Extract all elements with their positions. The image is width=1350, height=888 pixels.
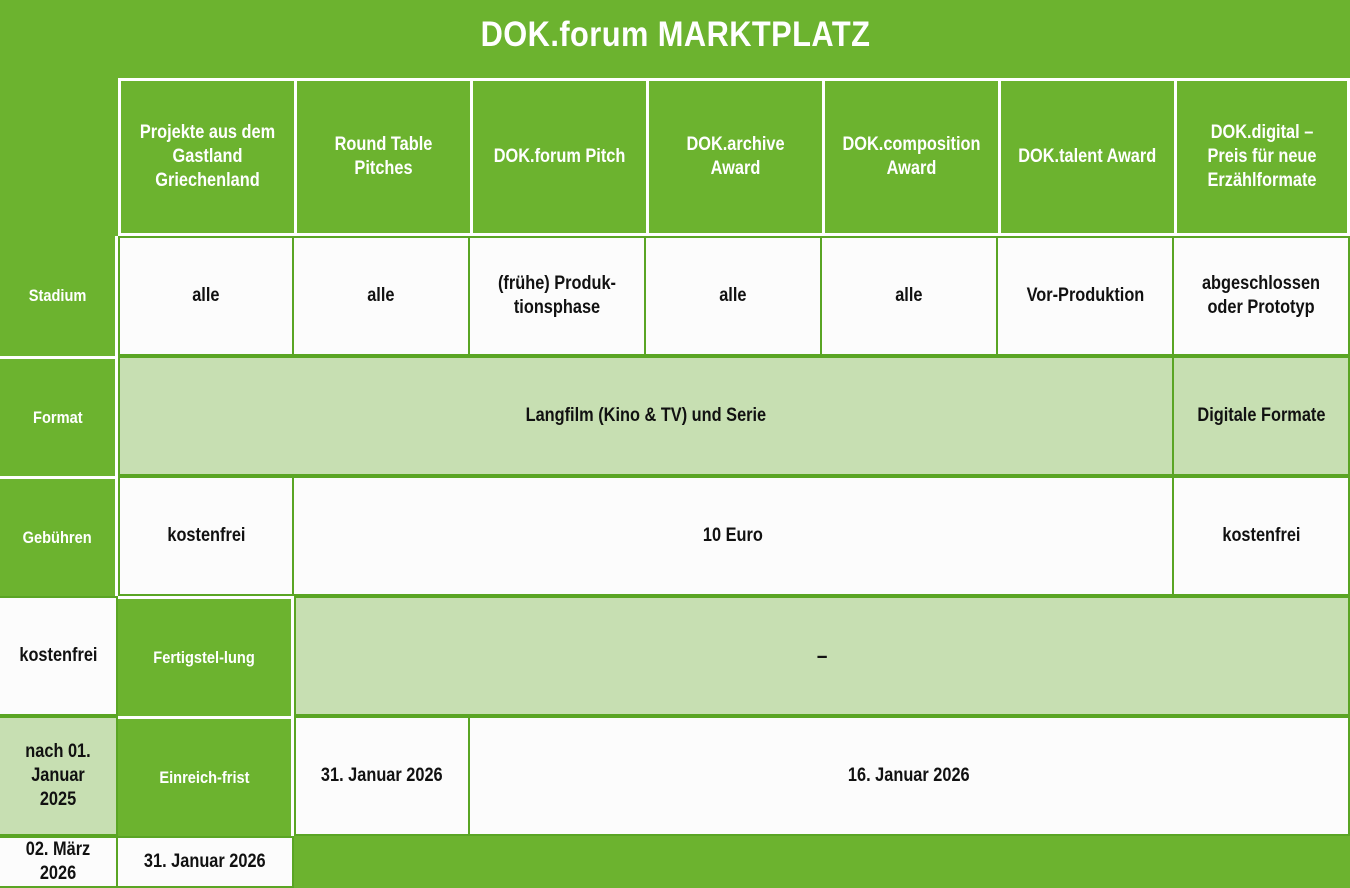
table-cell-r2-c1: Langfilm (Kino & TV) und Serie [118,356,1174,476]
table-cell-text: alle [192,284,219,308]
row-header-1: Stadium [0,236,118,356]
column-header-label: Round Table Pitches [314,133,452,182]
row-header-label: Format [33,408,83,428]
table-cell-text: – [817,642,828,670]
row-header-label: Gebühren [23,528,92,548]
table-cell-r1-c3: (frühe) Produk-tionsphase [470,236,646,356]
table-cell-text: alle [367,284,394,308]
table-cell-text: Langfilm (Kino & TV) und Serie [526,404,767,428]
table-cell-text: (frühe) Produk-tionsphase [487,272,626,320]
column-header-label: DOK.talent Award [1018,145,1156,169]
column-header-label: DOK.digital – Preis für neue Erzählforma… [1194,121,1330,194]
table-cell-r1-c7: abgeschlossen oder Prototyp [1174,236,1350,356]
table-cell-r5-c2: 16. Januar 2026 [470,716,1350,836]
column-header-label: DOK.archive Award [666,133,804,182]
row-header-5: Einreich-frist [118,716,294,836]
table-cell-r1-c1: alle [118,236,294,356]
table-cell-r4-c2: nach 01. Januar 2025 [0,716,118,836]
column-header-7: DOK.digital – Preis für neue Erzählforma… [1174,78,1350,236]
table-cell-r3-c3: kostenfrei [1174,476,1350,596]
table-cell-text: Vor-Produktion [1026,284,1144,308]
table-cell-text: 16. Januar 2026 [848,764,970,788]
column-header-label: DOK.forum Pitch [494,145,626,169]
row-header-label: Einreich-frist [159,768,249,788]
row-header-4: Fertigstel-lung [118,596,294,716]
table-cell-r3-c4: kostenfrei [0,596,118,716]
table-cell-text: 02. März 2026 [13,838,102,886]
table-cell-r1-c5: alle [822,236,998,356]
table-cell-r2-c2: Digitale Formate [1174,356,1350,476]
table-cell-r1-c4: alle [646,236,822,356]
table-cell-text: abgeschlossen oder Prototyp [1191,272,1330,320]
column-header-label: DOK.composition Award [842,133,980,182]
table-cell-r5-c1: 31. Januar 2026 [294,716,470,836]
table-cell-r1-c2: alle [294,236,470,356]
table-cell-r5-c4: 31. Januar 2026 [118,836,294,888]
row-header-3: Gebühren [0,476,118,596]
row-header-2: Format [0,356,118,476]
column-header-5: DOK.composition Award [822,78,998,236]
table-cell-text: Digitale Formate [1197,404,1325,428]
table-cell-text: alle [719,284,746,308]
row-header-label: Fertigstel-lung [154,648,256,668]
comparison-table: Projekte aus dem Gastland GriechenlandRo… [0,78,1350,888]
column-header-6: DOK.talent Award [998,78,1174,236]
table-cell-text: 10 Euro [703,524,763,548]
table-cell-r5-c3: 02. März 2026 [0,836,118,888]
table-cell-text: kostenfrei [1222,524,1300,548]
marktplatz-overview-page: DOK.forum MARKTPLATZ Projekte aus dem Ga… [0,0,1350,836]
column-header-4: DOK.archive Award [646,78,822,236]
table-cell-r1-c6: Vor-Produktion [998,236,1174,356]
table-cell-text: alle [895,284,922,308]
table-cell-text: kostenfrei [19,644,97,668]
table-cell-r3-c1: kostenfrei [118,476,294,596]
page-title: DOK.forum MARKTPLATZ [480,15,870,55]
table-cell-text: 31. Januar 2026 [321,764,443,788]
column-header-label: Projekte aus dem Gastland Griechenland [138,121,276,194]
table-cell-text: nach 01. Januar 2025 [13,740,102,812]
page-title-bar: DOK.forum MARKTPLATZ [0,0,1350,78]
row-header-label: Stadium [29,286,87,306]
table-cell-r4-c1: – [294,596,1350,716]
column-header-1: Projekte aus dem Gastland Griechenland [118,78,294,236]
table-corner-cell [0,78,118,236]
table-cell-text: kostenfrei [167,524,245,548]
table-cell-r3-c2: 10 Euro [294,476,1174,596]
table-cell-text: 31. Januar 2026 [144,850,266,874]
column-header-2: Round Table Pitches [294,78,470,236]
column-header-3: DOK.forum Pitch [470,78,646,236]
